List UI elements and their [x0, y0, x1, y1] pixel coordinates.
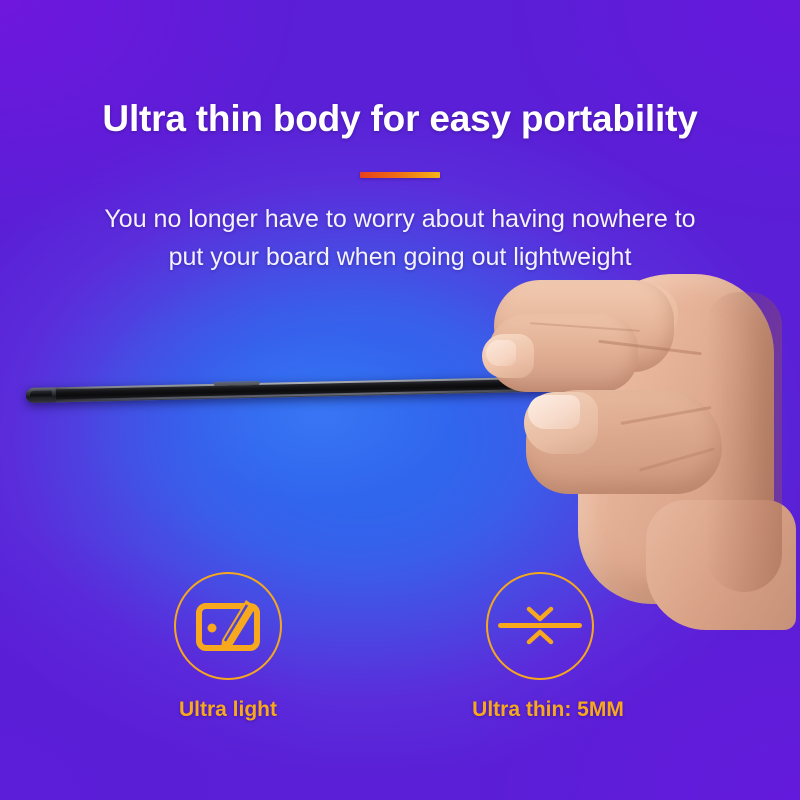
- tablet-pen-icon-svg: [172, 570, 284, 682]
- finger-nail: [486, 340, 516, 366]
- feature-ultra-light: Ultra light: [118, 570, 338, 722]
- thinness-arrows-icon-svg: [484, 570, 596, 682]
- tablet-pen-icon: [172, 570, 284, 682]
- page-title: Ultra thin body for easy portability: [0, 98, 800, 140]
- thumb-nail: [528, 395, 580, 429]
- tablet-left-edge-inner: [30, 390, 52, 398]
- accent-divider: [360, 172, 440, 178]
- feature-label: Ultra thin: 5MM: [430, 698, 650, 722]
- feature-label: Ultra light: [118, 698, 338, 722]
- promo-banner: Ultra thin body for easy portability You…: [0, 0, 800, 800]
- feature-ultra-thin: Ultra thin: 5MM: [430, 570, 650, 722]
- hand-pinching-tablet: [470, 262, 800, 622]
- thinness-arrows-icon: [484, 570, 596, 682]
